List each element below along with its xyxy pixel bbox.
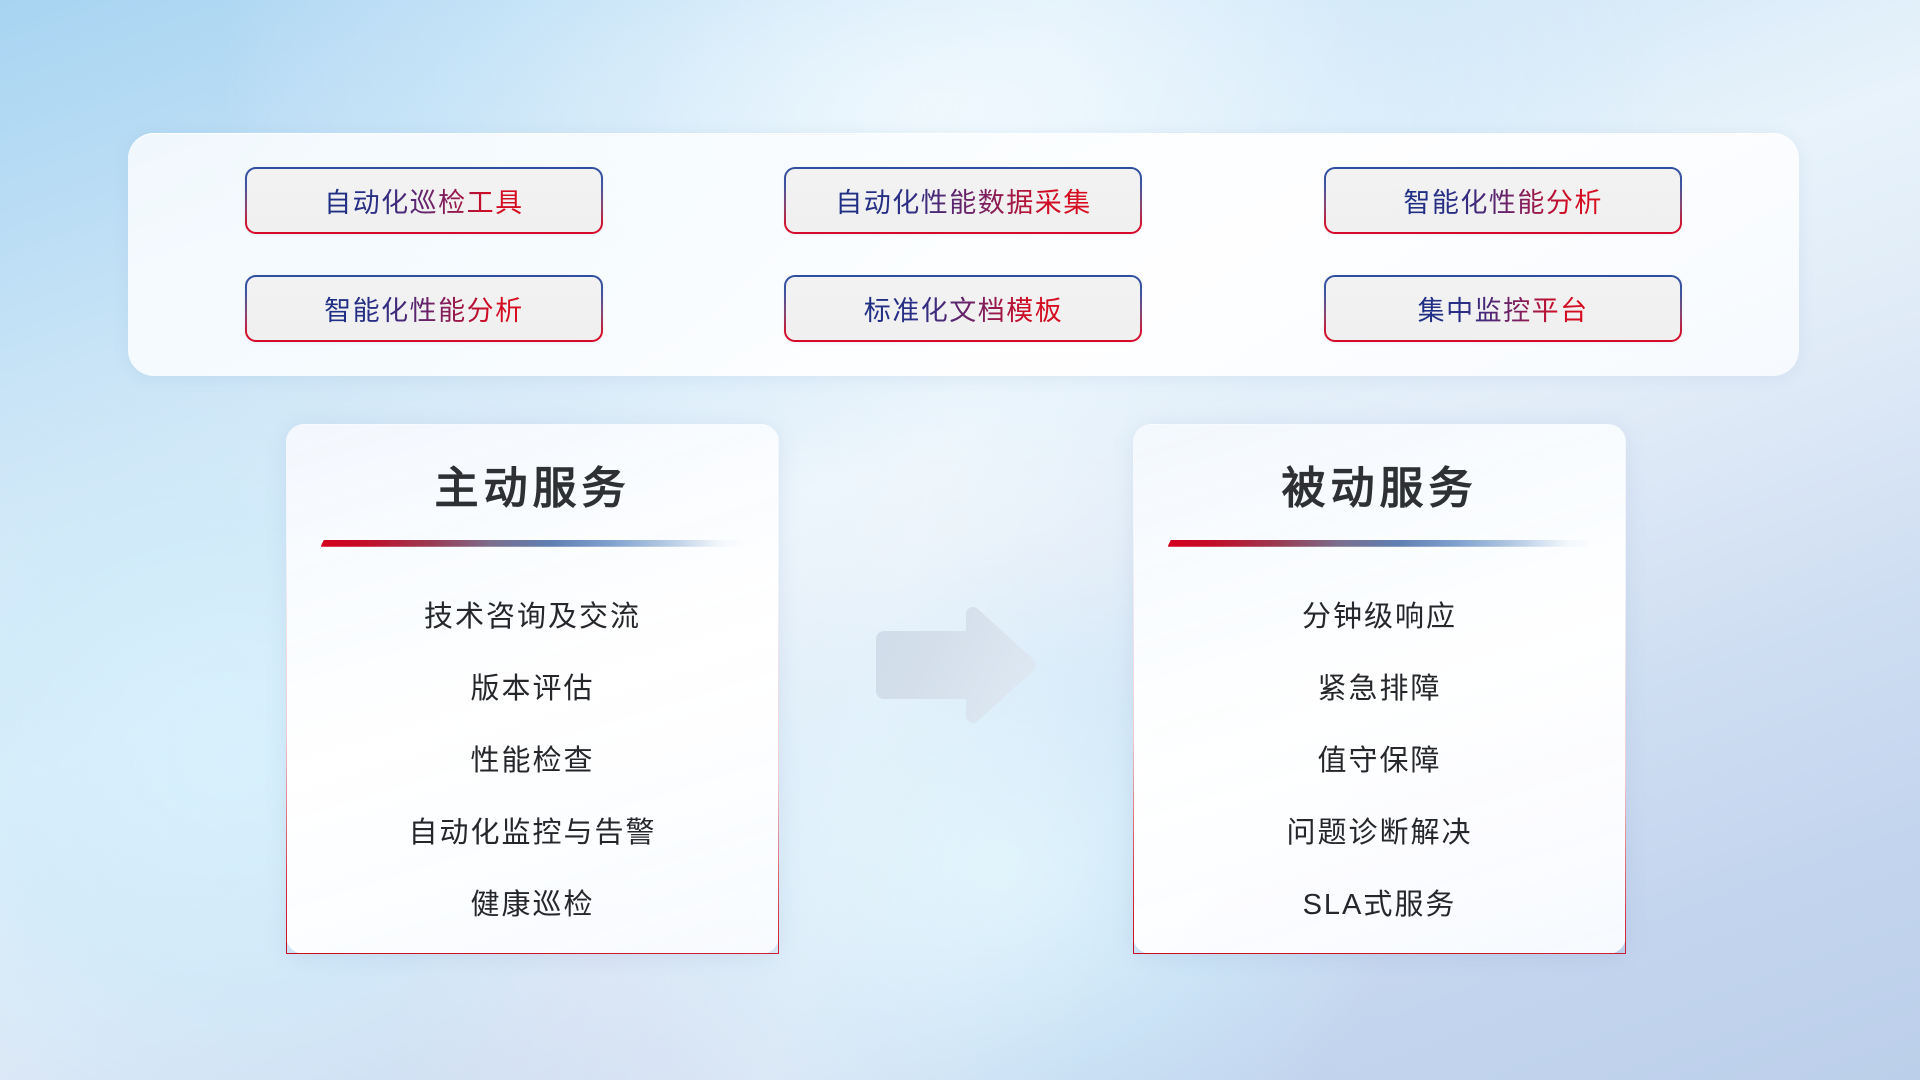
capability-tag-label: 标准化文档模板 <box>864 289 1064 328</box>
capability-tag-label: 自动化巡检工具 <box>324 181 524 220</box>
list-item: 性能检查 <box>470 725 594 797</box>
list-item: 紧急排障 <box>1317 653 1441 725</box>
list-item: 问题诊断解决 <box>1286 797 1472 869</box>
service-card-inner: 主动服务 技术咨询及交流 版本评估 性能检查 自动化监控与告警 健康巡检 <box>287 425 778 953</box>
service-card-divider <box>321 540 745 547</box>
service-card-divider <box>1168 540 1592 547</box>
capability-tag-grid: 自动化巡检工具 自动化性能数据采集 智能化性能分析 智能化性能分析 标准化文档模… <box>128 133 1799 376</box>
capability-tag-label: 智能化性能分析 <box>324 289 524 328</box>
service-card-title: 主动服务 <box>435 463 631 516</box>
list-item: 版本评估 <box>470 653 594 725</box>
list-item: 值守保障 <box>1317 725 1441 797</box>
capability-panel: 自动化巡检工具 自动化性能数据采集 智能化性能分析 智能化性能分析 标准化文档模… <box>128 133 1799 376</box>
service-card-inner: 被动服务 分钟级响应 紧急排障 值守保障 问题诊断解决 SLA式服务 <box>1134 425 1625 953</box>
right-arrow-icon <box>870 605 1040 725</box>
capability-tag-label: 自动化性能数据采集 <box>835 181 1092 220</box>
service-card-reactive: 被动服务 分钟级响应 紧急排障 值守保障 问题诊断解决 SLA式服务 <box>1133 424 1626 954</box>
service-card-item-list: 分钟级响应 紧急排障 值守保障 问题诊断解决 SLA式服务 <box>1134 581 1625 941</box>
service-card-item-list: 技术咨询及交流 版本评估 性能检查 自动化监控与告警 健康巡检 <box>287 581 778 941</box>
service-card-title: 被动服务 <box>1282 463 1478 516</box>
list-item: 健康巡检 <box>470 869 594 941</box>
capability-tag-automated-performance-data-collection[interactable]: 自动化性能数据采集 <box>784 167 1142 234</box>
capability-tag-label: 智能化性能分析 <box>1403 181 1603 220</box>
list-item: 自动化监控与告警 <box>408 797 656 869</box>
capability-tag-intelligent-performance-analysis-1[interactable]: 智能化性能分析 <box>1324 167 1682 234</box>
service-card-proactive: 主动服务 技术咨询及交流 版本评估 性能检查 自动化监控与告警 健康巡检 <box>286 424 779 954</box>
capability-tag-automated-inspection-tool[interactable]: 自动化巡检工具 <box>245 167 603 234</box>
list-item: 分钟级响应 <box>1302 581 1457 653</box>
list-item: 技术咨询及交流 <box>424 581 641 653</box>
capability-tag-intelligent-performance-analysis-2[interactable]: 智能化性能分析 <box>245 275 603 342</box>
capability-tag-standardized-document-template[interactable]: 标准化文档模板 <box>784 275 1142 342</box>
list-item: SLA式服务 <box>1303 869 1457 941</box>
capability-tag-centralized-monitoring-platform[interactable]: 集中监控平台 <box>1324 275 1682 342</box>
capability-tag-label: 集中监控平台 <box>1418 289 1589 328</box>
